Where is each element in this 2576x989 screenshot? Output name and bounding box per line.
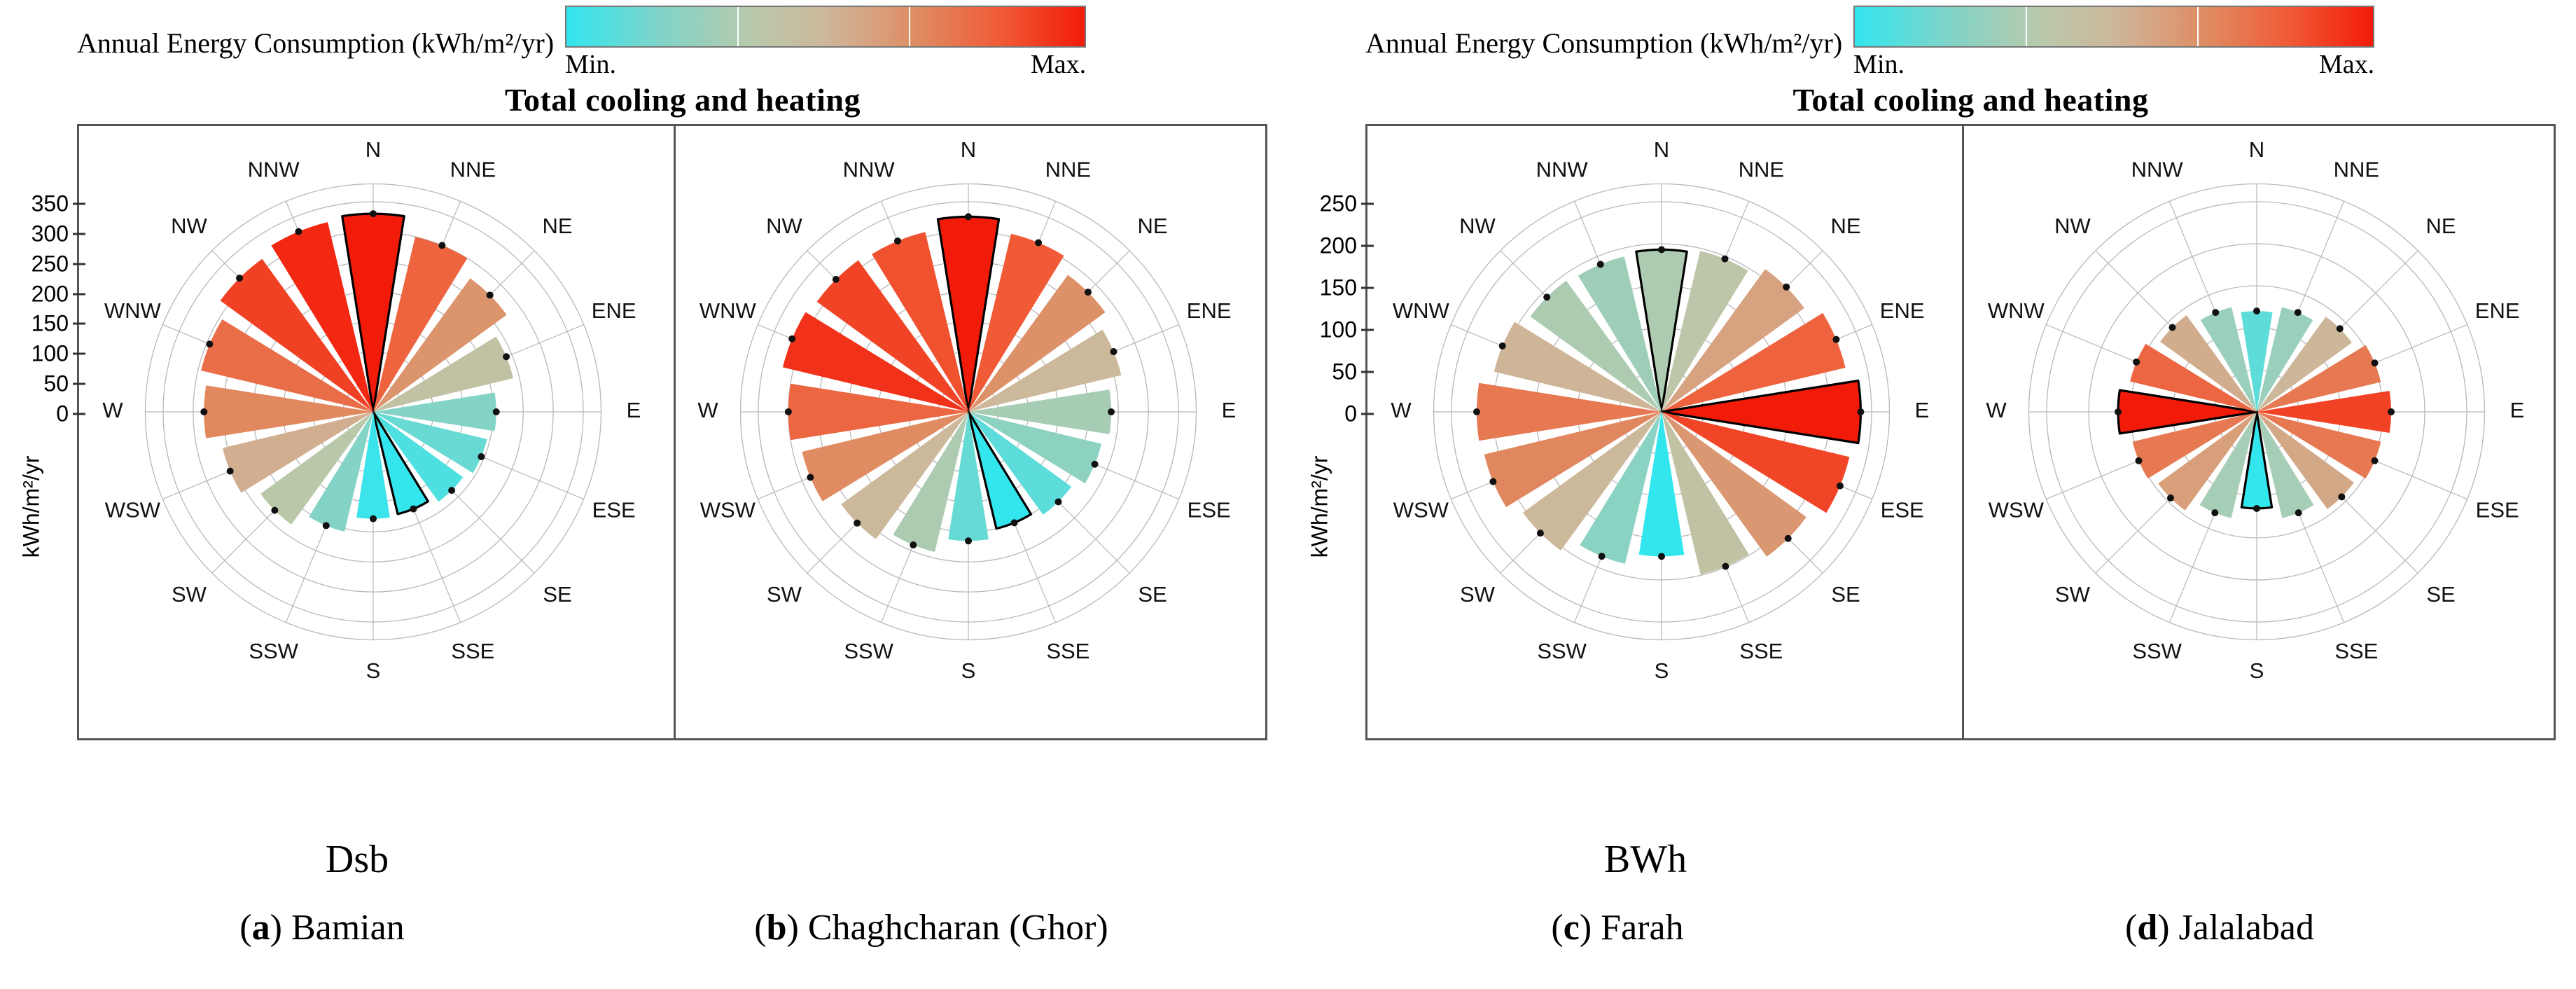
data-point-SE	[1054, 498, 1061, 505]
direction-label-SSE: SSE	[2334, 639, 2378, 663]
y-axis-tick-mark	[1361, 329, 1374, 331]
direction-label-SSE: SSE	[1739, 639, 1783, 663]
direction-label-WSW: WSW	[1393, 498, 1449, 523]
data-point-S	[965, 537, 972, 544]
data-point-NE	[1085, 289, 1092, 296]
data-point-WSW	[1489, 478, 1496, 485]
y-axis-tick-mark	[73, 203, 85, 205]
direction-label-N: N	[365, 137, 381, 162]
y-axis-tick-mark	[73, 323, 85, 325]
colorbar-tick	[737, 7, 739, 46]
y-axis-tick-label: 0	[0, 401, 69, 427]
y-axis-label-left: kWh/m²/yr	[19, 437, 45, 577]
direction-label-NW: NW	[1459, 214, 1496, 238]
direction-label-NE: NE	[1831, 214, 1861, 238]
data-point-NNW	[894, 237, 901, 244]
direction-label-WNW: WNW	[699, 298, 757, 323]
data-point-SSE	[1722, 563, 1729, 570]
data-point-ESE	[478, 453, 485, 460]
direction-label-NE: NE	[1138, 214, 1168, 238]
direction-label-WSW: WSW	[1989, 498, 2045, 523]
direction-label-NNW: NNW	[248, 158, 300, 182]
colorbar-title: Annual Energy Consumption (kWh/m²/yr)	[1365, 27, 1842, 60]
data-point-ESE	[1092, 461, 1099, 468]
y-axis-tick-mark	[1361, 413, 1374, 415]
data-point-NNE	[1035, 239, 1042, 246]
data-point-NNW	[2212, 309, 2219, 316]
y-axis-tick-label: 100	[1288, 317, 1357, 343]
caption-letter-b: b	[767, 908, 787, 948]
direction-label-SW: SW	[1460, 582, 1496, 607]
direction-label-S: S	[961, 658, 976, 683]
data-point-SSE	[2295, 509, 2302, 516]
y-axis-tick-mark	[1361, 287, 1374, 289]
data-point-SSE	[410, 506, 417, 513]
colorbar-min-label: Min.	[565, 49, 616, 80]
y-axis-tick-label: 0	[1288, 401, 1357, 427]
y-axis-label-right: kWh/m²/yr	[1307, 437, 1333, 577]
colorbar-tick	[909, 7, 910, 46]
y-axis-tick-label: 300	[0, 221, 69, 247]
data-point-N	[370, 210, 377, 217]
data-point-NE	[2337, 325, 2344, 332]
colorbar-max-label: Max.	[1031, 49, 1086, 80]
colorbar-gradient	[565, 6, 1086, 48]
panel-divider	[1962, 126, 1964, 738]
direction-label-ESE: ESE	[1188, 498, 1231, 523]
direction-label-N: N	[1654, 137, 1669, 162]
data-point-SSE	[1011, 519, 1018, 526]
direction-label-S: S	[2250, 658, 2264, 683]
colorbar-wrap: Min. Max.	[1853, 6, 2374, 80]
data-point-ENE	[1110, 348, 1117, 355]
direction-label-N: N	[2249, 137, 2264, 162]
data-point-SSW	[323, 522, 330, 529]
direction-label-SW: SW	[172, 582, 207, 607]
polar-chart-farah: NNNENEENEEESESESSESSSWSWWSWWWNWNWNNW	[1391, 137, 1929, 683]
direction-label-E: E	[1222, 398, 1237, 422]
direction-label-NNE: NNE	[1045, 158, 1091, 182]
direction-label-NE: NE	[543, 214, 573, 238]
data-point-NE	[1783, 284, 1790, 291]
data-point-WNW	[2133, 359, 2140, 366]
direction-label-SW: SW	[2055, 582, 2091, 607]
y-axis-tick-label: 250	[0, 251, 69, 277]
y-axis-tick-mark	[1361, 203, 1374, 205]
direction-label-W: W	[102, 398, 123, 422]
direction-label-ESE: ESE	[1881, 498, 1924, 523]
data-point-N	[2253, 307, 2260, 314]
polar-chart-jalalabad: NNNENEENEEESESESSESSSWSWWSWWWNWNWNNW	[1986, 137, 2524, 683]
y-axis-tick-label: 50	[0, 371, 69, 397]
colorbar-end-labels: Min. Max.	[1853, 49, 2374, 80]
caption-name-d: Jalalabad	[2179, 908, 2314, 948]
data-point-NW	[1543, 293, 1550, 300]
direction-label-S: S	[366, 658, 381, 683]
direction-label-NNE: NNE	[2334, 158, 2379, 182]
polar-chart-bamian: NNNENEENEEESESESSESSSWSWWSWWWNWNWNNW	[102, 137, 641, 683]
data-point-SW	[1537, 530, 1544, 537]
koppen-label-c: BWh	[1470, 837, 1820, 882]
data-point-SE	[2338, 493, 2345, 500]
data-point-NNE	[2295, 309, 2302, 316]
plot-frame-right: NNNENEENEEESESESSESSSWSWWSWWWNWNWNNWNNNE…	[1365, 124, 2556, 740]
direction-label-SSW: SSW	[844, 639, 893, 663]
y-axis-tick-label: 350	[0, 191, 69, 217]
direction-label-ENE: ENE	[2475, 298, 2520, 323]
direction-label-ENE: ENE	[1187, 298, 1232, 323]
data-point-NNE	[438, 242, 445, 249]
data-point-W	[2115, 408, 2122, 415]
data-point-E	[1108, 408, 1115, 415]
caption-name-b: Chaghcharan (Ghor)	[808, 908, 1108, 948]
direction-label-NNE: NNE	[450, 158, 496, 182]
data-point-S	[370, 516, 377, 523]
data-point-WNW	[206, 340, 213, 347]
y-axis-tick-mark	[1361, 371, 1374, 373]
data-point-N	[1658, 246, 1665, 253]
data-point-SE	[1785, 535, 1792, 542]
caption-c: (c) Farah	[1393, 907, 1842, 948]
caption-b: (b) Chaghcharan (Ghor)	[588, 907, 1274, 948]
direction-label-NNW: NNW	[843, 158, 896, 182]
direction-label-W: W	[1391, 398, 1412, 422]
colorbar-tick	[2026, 7, 2027, 46]
direction-label-ENE: ENE	[592, 298, 636, 323]
direction-label-E: E	[627, 398, 641, 422]
y-axis-tick-mark	[73, 293, 85, 295]
colorbar-end-labels: Min. Max.	[565, 49, 1086, 80]
direction-label-NNW: NNW	[1536, 158, 1589, 182]
direction-label-SSE: SSE	[451, 639, 494, 663]
y-axis-tick-mark	[73, 263, 85, 265]
data-point-NW	[833, 276, 840, 283]
data-point-E	[2388, 408, 2395, 415]
direction-label-E: E	[1915, 398, 1930, 422]
y-axis-tick-label: 200	[1288, 233, 1357, 259]
panel-divider	[674, 126, 676, 738]
direction-label-W: W	[697, 398, 718, 422]
direction-label-SE: SE	[2426, 582, 2455, 607]
data-point-SSW	[910, 541, 917, 548]
data-point-WSW	[2135, 457, 2142, 464]
polar-chart-chaghcharan: NNNENEENEEESESESSESSSWSWWSWWWNWNWNNW	[697, 137, 1236, 683]
direction-label-W: W	[1986, 398, 2007, 422]
direction-label-WNW: WNW	[104, 298, 162, 323]
panel-title-right: Total cooling and heating	[1365, 81, 2576, 118]
direction-label-SSW: SSW	[1537, 639, 1587, 663]
data-point-NNW	[1597, 261, 1604, 268]
panel-group-left: Annual Energy Consumption (kWh/m²/yr) Mi…	[0, 0, 1288, 740]
caption-name-c: Farah	[1601, 908, 1683, 948]
direction-label-NW: NW	[2054, 214, 2091, 238]
panel-title-left: Total cooling and heating	[77, 81, 1288, 118]
y-axis-tick-mark	[73, 413, 85, 415]
data-point-SW	[271, 507, 278, 514]
direction-label-WSW: WSW	[700, 498, 756, 523]
data-point-E	[493, 408, 500, 415]
direction-label-WNW: WNW	[1393, 298, 1450, 323]
direction-label-ENE: ENE	[1880, 298, 1925, 323]
direction-label-SE: SE	[1138, 582, 1167, 607]
data-point-N	[965, 213, 972, 220]
direction-label-SSE: SSE	[1046, 639, 1089, 663]
caption-letter-a: a	[252, 908, 270, 948]
colorbar-legend-right: Annual Energy Consumption (kWh/m²/yr) Mi…	[1288, 0, 2576, 81]
data-point-W	[200, 408, 207, 415]
direction-label-NW: NW	[171, 214, 207, 238]
data-point-WSW	[227, 468, 234, 475]
y-axis-tick-mark	[73, 353, 85, 355]
direction-label-NNE: NNE	[1739, 158, 1784, 182]
y-axis-tick-label: 100	[0, 341, 69, 367]
colorbar-gradient	[1853, 6, 2374, 48]
data-point-S	[2253, 505, 2260, 512]
y-axis-tick-label: 150	[1288, 275, 1357, 301]
data-point-SE	[448, 487, 455, 494]
koppen-label-a: Dsb	[182, 837, 532, 882]
colorbar-title: Annual Energy Consumption (kWh/m²/yr)	[77, 27, 554, 60]
direction-label-ESE: ESE	[592, 498, 636, 523]
data-point-S	[1658, 553, 1665, 560]
direction-label-S: S	[1655, 658, 1669, 683]
direction-label-SW: SW	[767, 582, 802, 607]
direction-label-E: E	[2510, 398, 2525, 422]
data-point-W	[1473, 408, 1480, 415]
data-point-E	[1857, 408, 1864, 415]
data-point-ESE	[2372, 457, 2379, 464]
data-point-SSW	[2211, 509, 2218, 516]
direction-label-SE: SE	[543, 582, 571, 607]
colorbar-max-label: Max.	[2319, 49, 2374, 80]
direction-label-NNW: NNW	[2131, 158, 2184, 182]
colorbar-min-label: Min.	[1853, 49, 1905, 80]
data-point-SSW	[1599, 553, 1606, 560]
data-point-NW	[236, 275, 243, 282]
direction-label-SSW: SSW	[2132, 639, 2182, 663]
y-axis-tick-label: 50	[1288, 359, 1357, 385]
y-axis-tick-mark	[1361, 245, 1374, 247]
data-point-W	[785, 408, 792, 415]
plot-frame-left: NNNENEENEEESESESSESSSWSWWSWWWNWNWNNWNNNE…	[77, 124, 1267, 740]
data-point-WNW	[788, 336, 795, 343]
direction-label-SE: SE	[1831, 582, 1860, 607]
caption-name-a: Bamian	[291, 908, 405, 948]
direction-label-ESE: ESE	[2476, 498, 2519, 523]
colorbar-legend-left: Annual Energy Consumption (kWh/m²/yr) Mi…	[0, 0, 1288, 81]
data-point-ESE	[1837, 483, 1844, 490]
caption-letter-d: d	[2137, 908, 2157, 948]
direction-label-SSW: SSW	[249, 639, 298, 663]
data-point-WSW	[807, 473, 814, 480]
y-axis-tick-label: 150	[0, 311, 69, 337]
y-axis-tick-mark	[73, 383, 85, 385]
data-point-NNW	[295, 228, 302, 235]
y-axis-tick-label: 200	[0, 281, 69, 307]
data-point-SW	[2167, 494, 2174, 502]
data-point-ENE	[503, 353, 510, 360]
colorbar-wrap: Min. Max.	[565, 6, 1086, 80]
caption-d: (d) Jalalabad	[1905, 907, 2535, 948]
data-point-NE	[487, 291, 494, 298]
y-axis-tick-mark	[73, 233, 85, 235]
data-point-ENE	[1832, 336, 1839, 343]
data-point-NNE	[1721, 256, 1728, 263]
data-point-NW	[2169, 324, 2176, 331]
data-point-SW	[854, 520, 861, 527]
direction-label-NW: NW	[766, 214, 802, 238]
colorbar-tick	[2197, 7, 2199, 46]
data-point-ENE	[2372, 359, 2379, 366]
caption-letter-c: c	[1564, 908, 1580, 948]
y-axis-tick-label: 250	[1288, 191, 1357, 217]
panel-group-right: Annual Energy Consumption (kWh/m²/yr) Mi…	[1288, 0, 2576, 740]
direction-label-NE: NE	[2426, 214, 2456, 238]
data-point-WNW	[1499, 343, 1506, 350]
direction-label-WSW: WSW	[105, 498, 161, 523]
direction-label-N: N	[961, 137, 976, 162]
direction-label-WNW: WNW	[1988, 298, 2045, 323]
caption-a: (a) Bamian	[84, 907, 560, 948]
